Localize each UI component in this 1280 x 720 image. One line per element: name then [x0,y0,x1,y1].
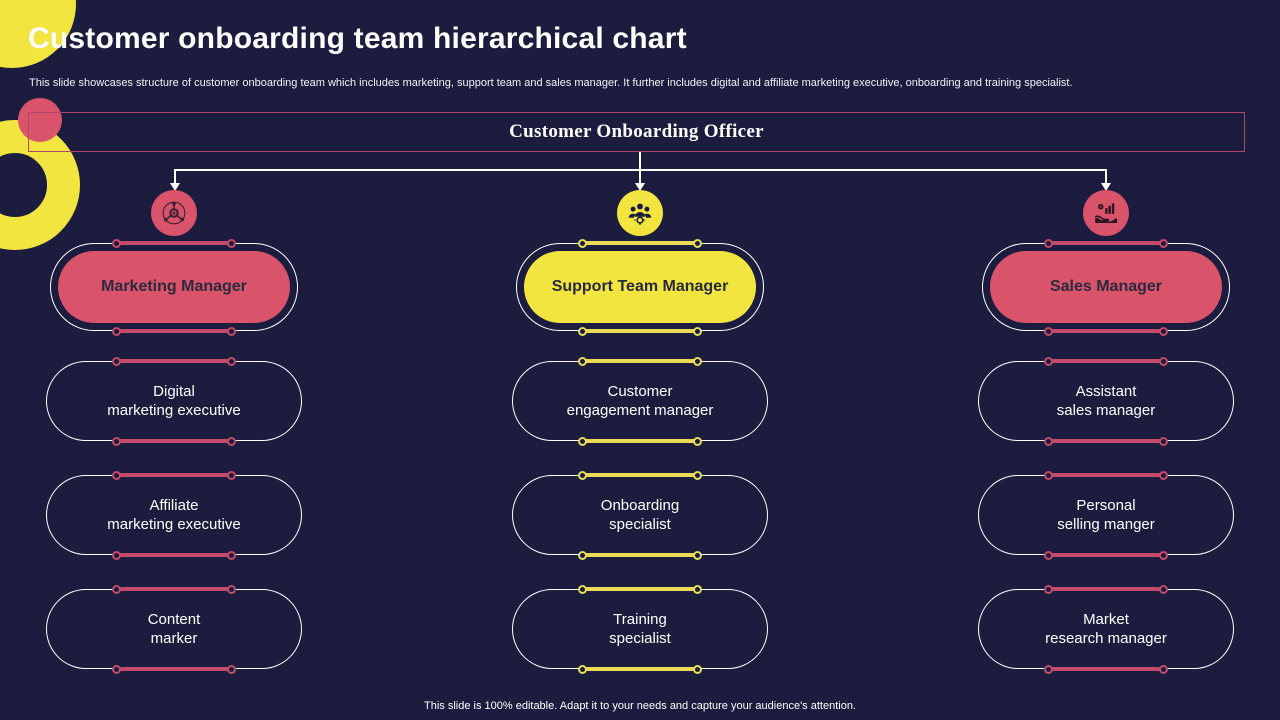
connector-knob [227,437,236,446]
child-node-line2: research manager [1045,629,1167,648]
head-node[interactable]: Support Team Manager [512,241,768,333]
head-node[interactable]: Sales Manager [978,241,1234,333]
connector-knob [1044,327,1053,336]
child-node-pill: Contentmarker [46,589,302,669]
child-node-line2: engagement manager [567,401,714,420]
connector-bar-bottom [582,329,698,333]
connector-bar-bottom [1048,667,1164,671]
connector-knob [227,239,236,248]
connector-knob [693,551,702,560]
child-node-pill: Personalselling manger [978,475,1234,555]
connector-knob [1159,239,1168,248]
connector-knob [112,665,121,674]
connector-knob [693,239,702,248]
connector-knob [1159,585,1168,594]
page-title: Customer onboarding team hierarchical ch… [28,22,687,56]
connector-knob [578,665,587,674]
child-node-line2: selling manger [1057,515,1155,534]
connector-knob [1159,327,1168,336]
connector-knob [693,437,702,446]
connector-bar-top [582,587,698,591]
head-node-label: Marketing Manager [58,251,290,323]
connector-knob [112,327,121,336]
connector-bar-bottom [1048,329,1164,333]
connector-knob [1044,585,1053,594]
child-node-line2: specialist [601,515,679,534]
connector-bar-bottom [116,553,232,557]
connector-bar-top [116,473,232,477]
connector-knob [578,585,587,594]
child-node[interactable]: Marketresearch manager [978,583,1234,675]
child-node-pill: Trainingspecialist [512,589,768,669]
child-node-line1: Personal [1057,496,1155,515]
connector-bar-bottom [116,439,232,443]
connector-knob [1159,357,1168,366]
child-node-line1: Affiliate [107,496,240,515]
child-node-line1: Assistant [1057,382,1155,401]
connector-knob [578,327,587,336]
connector-knob [227,551,236,560]
connector-knob [1159,437,1168,446]
connector-knob [1044,357,1053,366]
child-node-line2: marketing executive [107,515,240,534]
connector-bar-bottom [582,553,698,557]
child-node-line2: specialist [609,629,671,648]
child-node[interactable]: Onboardingspecialist [512,469,768,561]
officer-box: Customer Onboarding Officer [28,112,1245,152]
branch-column-sales: $Sales ManagerAssistantsales managerPers… [978,190,1234,697]
connector-knob [1044,665,1053,674]
connector-knob [1159,551,1168,560]
child-node-pill: Customerengagement manager [512,361,768,441]
connector-knob [112,239,121,248]
gear-network-icon [151,190,197,236]
connector-knob [112,471,121,480]
connector-bar-top [116,241,232,245]
connector-knob [1159,665,1168,674]
child-node-pill: Assistantsales manager [978,361,1234,441]
connector-bar-top [1048,359,1164,363]
connector-knob [112,551,121,560]
branch-column-support: Support Team ManagerCustomerengagement m… [512,190,768,697]
child-node-line1: Training [609,610,671,629]
child-node[interactable]: Customerengagement manager [512,355,768,447]
connector-knob [112,585,121,594]
connector-knob [1159,471,1168,480]
connector-stem [639,152,641,170]
branch-column-marketing: Marketing ManagerDigitalmarketing execut… [46,190,302,697]
connector-bar-top [582,359,698,363]
connector-knob [1044,437,1053,446]
child-node-line2: marketing executive [107,401,240,420]
connector-knob [693,585,702,594]
connector-knob [227,357,236,366]
head-node-label: Sales Manager [990,251,1222,323]
connector-bar-top [582,241,698,245]
footer-note: This slide is 100% editable. Adapt it to… [0,700,1280,712]
connector-knob [1044,239,1053,248]
connector-bar-bottom [116,329,232,333]
head-node-label: Support Team Manager [524,251,756,323]
connector-bar-bottom [116,667,232,671]
connector-knob [112,437,121,446]
child-node-line1: Market [1045,610,1167,629]
connector-knob [227,585,236,594]
connector-knob [578,471,587,480]
connector-bar-bottom [1048,439,1164,443]
child-node[interactable]: Contentmarker [46,583,302,675]
connector-knob [1044,471,1053,480]
connector-bar-bottom [582,667,698,671]
connector-knob [1044,551,1053,560]
connector-bar-bottom [1048,553,1164,557]
child-node-pill: Onboardingspecialist [512,475,768,555]
officer-label: Customer Onboarding Officer [509,121,764,143]
connector-knob [112,357,121,366]
head-node[interactable]: Marketing Manager [46,241,302,333]
child-node[interactable]: Affiliatemarketing executive [46,469,302,561]
child-node-line1: Digital [107,382,240,401]
connector-bar-top [116,359,232,363]
child-node[interactable]: Digitalmarketing executive [46,355,302,447]
child-node-line2: marker [148,629,201,648]
child-node[interactable]: Personalselling manger [978,469,1234,561]
connector-bar-top [1048,473,1164,477]
connector-bar-top [1048,241,1164,245]
connector-knob [578,239,587,248]
child-node[interactable]: Trainingspecialist [512,583,768,675]
child-node-line1: Onboarding [601,496,679,515]
connector-knob [578,551,587,560]
child-node-line1: Content [148,610,201,629]
child-node-line2: sales manager [1057,401,1155,420]
connector-bar-top [116,587,232,591]
child-node-pill: Digitalmarketing executive [46,361,302,441]
connector-knob [693,327,702,336]
page-subtitle: This slide showcases structure of custom… [29,76,1239,91]
connector-bar-top [1048,587,1164,591]
connector-bar-top [582,473,698,477]
connector-knob [227,471,236,480]
connector-knob [693,471,702,480]
team-group-icon [617,190,663,236]
connector-knob [227,665,236,674]
hand-growth-chart-icon: $ [1083,190,1129,236]
connector-knob [693,357,702,366]
child-node-pill: Marketresearch manager [978,589,1234,669]
child-node[interactable]: Assistantsales manager [978,355,1234,447]
connector-knob [693,665,702,674]
connector-knob [578,357,587,366]
connector-bar-bottom [582,439,698,443]
child-node-pill: Affiliatemarketing executive [46,475,302,555]
connector-knob [227,327,236,336]
connector-knob [578,437,587,446]
child-node-line1: Customer [567,382,714,401]
